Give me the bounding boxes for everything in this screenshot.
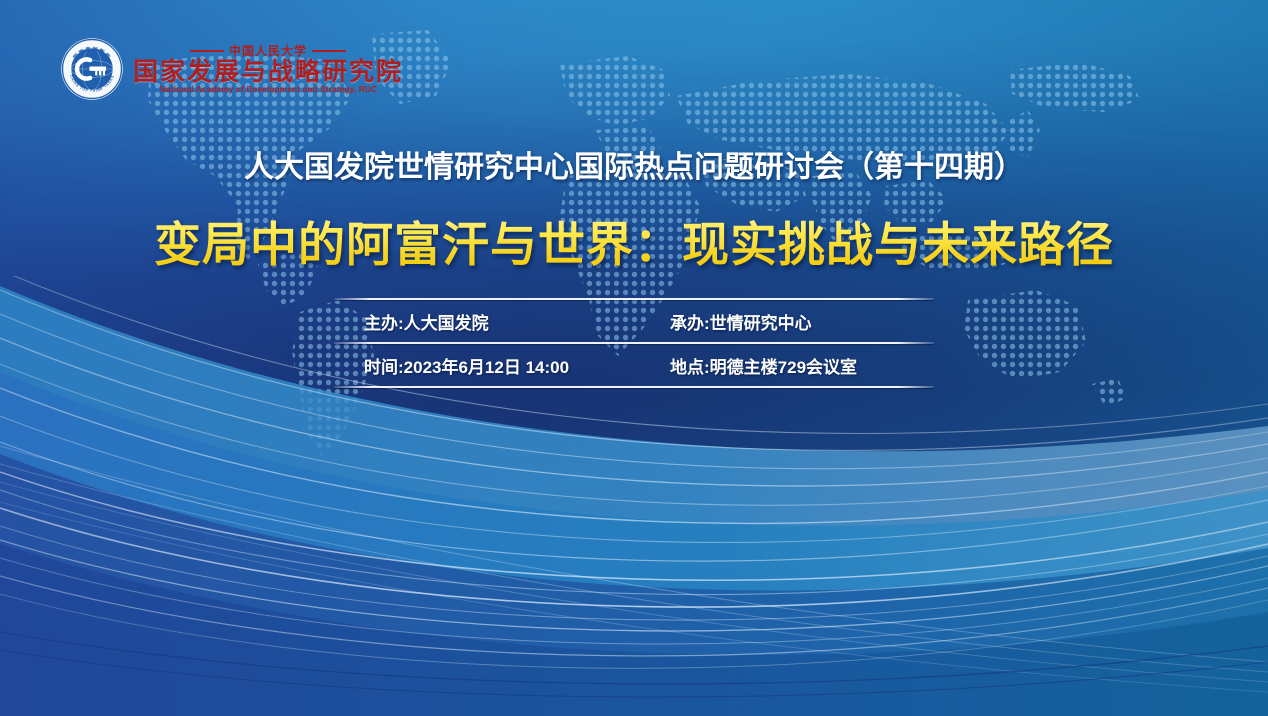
co-host-label: 承办:世情研究中心 bbox=[670, 309, 928, 334]
page-title: 变局中的阿富汗与世界：现实挑战与未来路径 bbox=[0, 206, 1268, 275]
time-location-row: 时间:2023年6月12日 14:00 地点:明德主楼729会议室 bbox=[334, 344, 934, 386]
china-top-think-tanks-seal-icon: 国家高端智库 CHINA TOP THINK TANKS bbox=[60, 37, 124, 101]
host-label: 主办:人大国发院 bbox=[340, 309, 670, 334]
logo-institute: 国家发展与战略研究院 bbox=[133, 60, 403, 85]
organization-logo: 国家高端智库 CHINA TOP THINK TANKS 中国人民大学 国家发展… bbox=[60, 32, 403, 106]
logo-institute-english: National Academy of Development and Stra… bbox=[159, 86, 376, 94]
logo-rule-left bbox=[190, 50, 224, 52]
organizer-row: 主办:人大国发院 承办:世情研究中心 bbox=[334, 300, 934, 342]
logo-university-line: 中国人民大学 bbox=[190, 45, 346, 57]
conference-poster: 国家高端智库 CHINA TOP THINK TANKS 中国人民大学 国家发展… bbox=[0, 0, 1268, 716]
event-details: 主办:人大国发院 承办:世情研究中心 时间:2023年6月12日 14:00 地… bbox=[334, 298, 934, 388]
time-label: 时间:2023年6月12日 14:00 bbox=[340, 353, 670, 378]
logo-university: 中国人民大学 bbox=[229, 45, 307, 57]
event-series-subtitle: 人大国发院世情研究中心国际热点问题研讨会（第十四期） bbox=[0, 142, 1268, 186]
logo-wordmark: 中国人民大学 国家发展与战略研究院 National Academy of De… bbox=[133, 45, 403, 94]
location-label: 地点:明德主楼729会议室 bbox=[670, 353, 928, 378]
logo-rule-right bbox=[312, 50, 346, 52]
divider-bottom bbox=[334, 386, 934, 388]
